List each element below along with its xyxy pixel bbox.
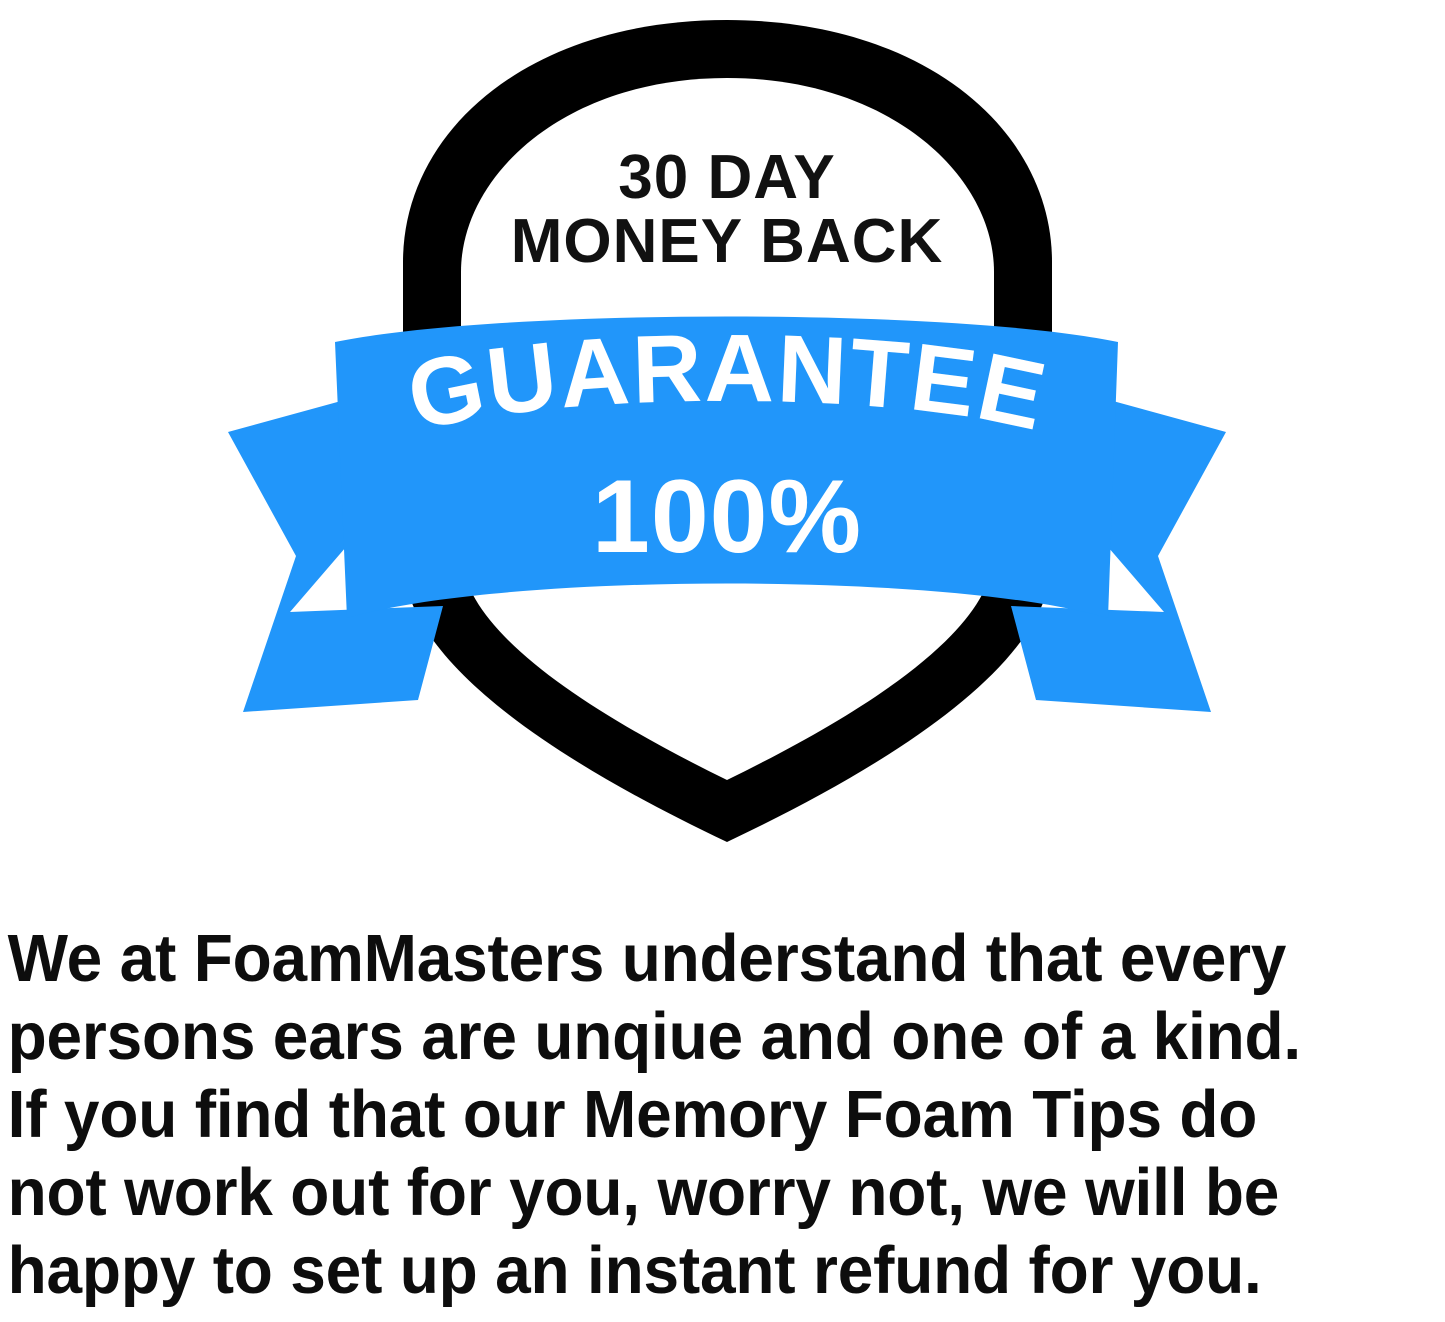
guarantee-line: We at FoamMasters understand that every bbox=[0, 920, 1380, 998]
guarantee-line: happy to set up an instant refund for yo… bbox=[0, 1232, 1380, 1310]
shield-label-line2: MONEY BACK bbox=[511, 207, 944, 276]
money-back-guarantee-badge: 30 DAY MONEY BACK GUARANTEE 100% bbox=[0, 0, 1445, 900]
guarantee-line: persons ears are unqiue and one of a kin… bbox=[0, 998, 1380, 1076]
shield-label-line1: 30 DAY bbox=[618, 143, 835, 212]
badge-svg: 30 DAY MONEY BACK GUARANTEE 100% bbox=[0, 0, 1445, 900]
guarantee-line: not work out for you, worry not, we will… bbox=[0, 1154, 1380, 1232]
ribbon-label-line2: 100% bbox=[592, 459, 862, 575]
guarantee-line: If you find that our Memory Foam Tips do bbox=[0, 1076, 1380, 1154]
guarantee-description: We at FoamMasters understand that every … bbox=[0, 920, 1445, 1310]
